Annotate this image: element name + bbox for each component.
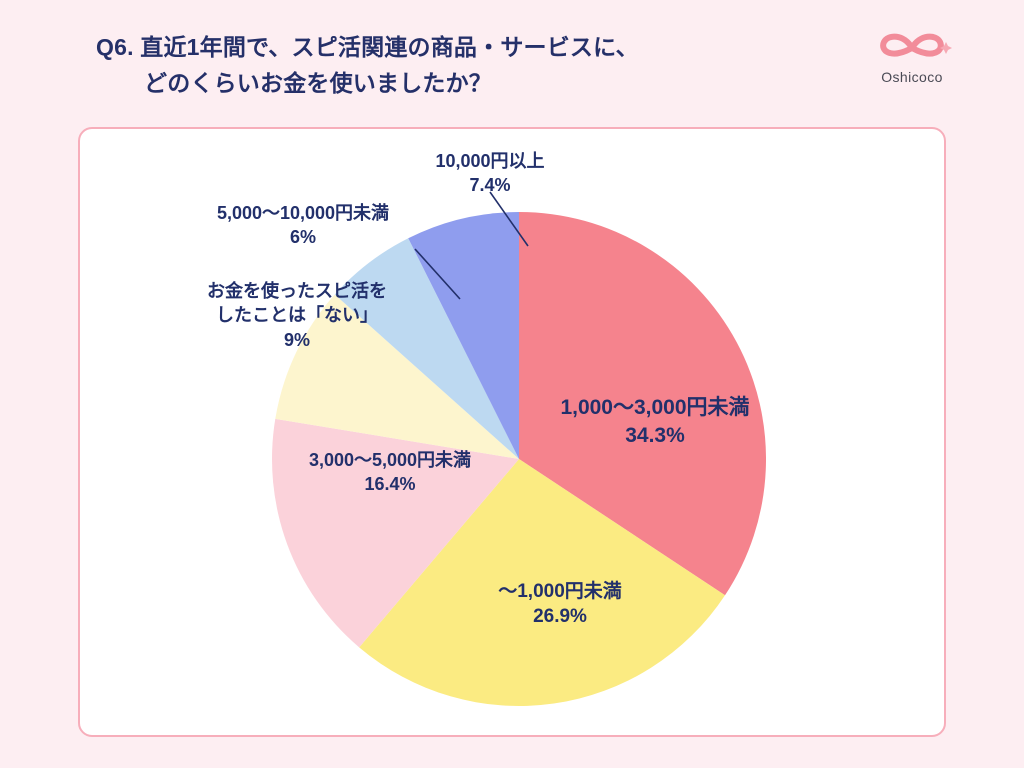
brand-logo: Oshicoco — [862, 28, 962, 90]
slice-label-1000-3000-text: 1,000〜3,000円未満 — [560, 396, 749, 419]
slice-label-5000-10000-text: 5,000〜10,000円未満 — [217, 203, 389, 223]
page-header: Q6. 直近1年間で、スピ活関連の商品・サービスに、 どのくらいお金を使いました… — [0, 0, 1024, 118]
slice-label-1000-3000: 1,000〜3,000円未満 34.3% — [510, 394, 800, 449]
slice-label-under-1000: 〜1,000円未満 26.9% — [435, 579, 685, 629]
slice-label-no-spending-text-line-2: したことは「ない」 — [216, 305, 378, 325]
infinity-heart-icon — [862, 28, 962, 68]
slice-label-1000-3000-percent: 34.3% — [510, 422, 800, 450]
page-title-line-2: どのくらいお金を使いましたか？ — [96, 66, 796, 102]
slice-label-5000-10000: 5,000〜10,000円未満 6% — [158, 201, 448, 250]
slice-label-over-10000-percent: 7.4% — [469, 175, 510, 195]
slice-label-over-10000-text: 10,000円以上 — [435, 151, 544, 171]
page-title-line-1: Q6. 直近1年間で、スピ活関連の商品・サービスに、 — [96, 34, 639, 60]
slice-label-under-1000-text: 〜1,000円未満 — [498, 581, 622, 602]
slice-label-3000-5000-text: 3,000〜5,000円未満 — [309, 450, 471, 470]
slice-label-under-1000-percent: 26.9% — [435, 604, 685, 629]
slice-label-over-10000: 10,000円以上 7.4% — [370, 149, 610, 198]
pie-chart: 1,000〜3,000円未満 34.3% 〜1,000円未満 26.9% 3,0… — [80, 129, 948, 735]
slice-label-no-spending: お金を使ったスピ活を したことは「ない」 9% — [152, 279, 442, 352]
slice-label-3000-5000-percent: 16.4% — [270, 473, 510, 497]
chart-card: 1,000〜3,000円未満 34.3% 〜1,000円未満 26.9% 3,0… — [78, 127, 946, 737]
page-title: Q6. 直近1年間で、スピ活関連の商品・サービスに、 どのくらいお金を使いました… — [96, 30, 796, 101]
slice-label-no-spending-percent: 9% — [284, 330, 310, 350]
brand-name: Oshicoco — [862, 69, 962, 85]
slice-label-5000-10000-percent: 6% — [290, 227, 316, 247]
slice-label-no-spending-text-line-1: お金を使ったスピ活を — [207, 281, 387, 301]
slice-label-3000-5000: 3,000〜5,000円未満 16.4% — [270, 449, 510, 497]
